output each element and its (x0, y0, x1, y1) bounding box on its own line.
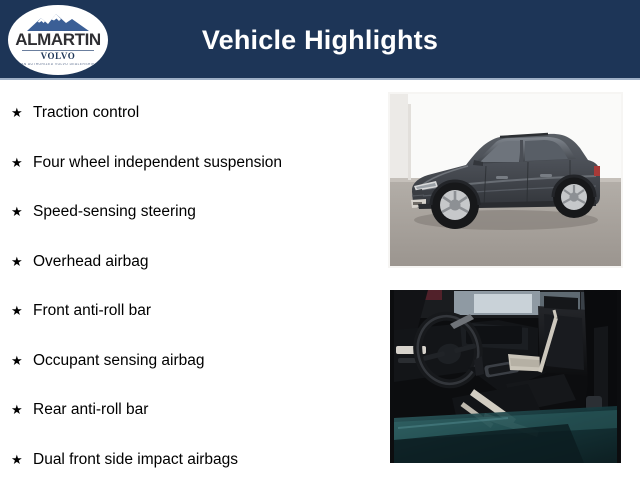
feature-label: Speed-sensing steering (33, 203, 196, 220)
star-icon: ★ (11, 156, 33, 169)
vehicle-exterior-illustration (388, 92, 623, 268)
list-item: ★ Dual front side impact airbags (11, 435, 380, 480)
logo-dealer-name: ALMARTIN (8, 31, 108, 48)
dealer-logo[interactable]: ALMARTIN VOLVO AN AUTHORIZED VOLVO DEALE… (8, 5, 108, 75)
vehicle-highlights-slide: ALMARTIN VOLVO AN AUTHORIZED VOLVO DEALE… (0, 0, 640, 480)
feature-label: Front anti-roll bar (33, 302, 151, 319)
mountain-icon (25, 12, 91, 32)
feature-label: Dual front side impact airbags (33, 451, 238, 468)
feature-label: Traction control (33, 104, 139, 121)
list-item: ★ Speed-sensing steering (11, 187, 380, 237)
star-icon: ★ (11, 453, 33, 466)
star-icon: ★ (11, 205, 33, 218)
list-item: ★ Front anti-roll bar (11, 286, 380, 336)
star-icon: ★ (11, 255, 33, 268)
feature-list: ★ Traction control ★ Four wheel independ… (0, 84, 380, 480)
page-title: Vehicle Highlights (110, 0, 530, 80)
logo-brand-name: VOLVO (8, 52, 108, 61)
feature-label: Four wheel independent suspension (33, 154, 282, 171)
feature-label: Overhead airbag (33, 253, 148, 270)
logo-oval-background: ALMARTIN VOLVO AN AUTHORIZED VOLVO DEALE… (8, 5, 108, 75)
header-bar: ALMARTIN VOLVO AN AUTHORIZED VOLVO DEALE… (0, 0, 640, 80)
vehicle-exterior-photo[interactable] (388, 92, 623, 268)
star-icon: ★ (11, 354, 33, 367)
feature-label: Occupant sensing airbag (33, 352, 204, 369)
list-item: ★ Traction control (11, 88, 380, 138)
star-icon: ★ (11, 304, 33, 317)
list-item: ★ Occupant sensing airbag (11, 336, 380, 386)
star-icon: ★ (11, 403, 33, 416)
star-icon: ★ (11, 106, 33, 119)
list-item: ★ Overhead airbag (11, 237, 380, 287)
logo-tagline: AN AUTHORIZED VOLVO DEALERSHIP (8, 63, 108, 66)
list-item: ★ Four wheel independent suspension (11, 138, 380, 188)
vehicle-interior-photo[interactable] (388, 288, 623, 465)
list-item: ★ Rear anti-roll bar (11, 385, 380, 435)
vehicle-interior-illustration (388, 288, 623, 465)
feature-label: Rear anti-roll bar (33, 401, 148, 418)
